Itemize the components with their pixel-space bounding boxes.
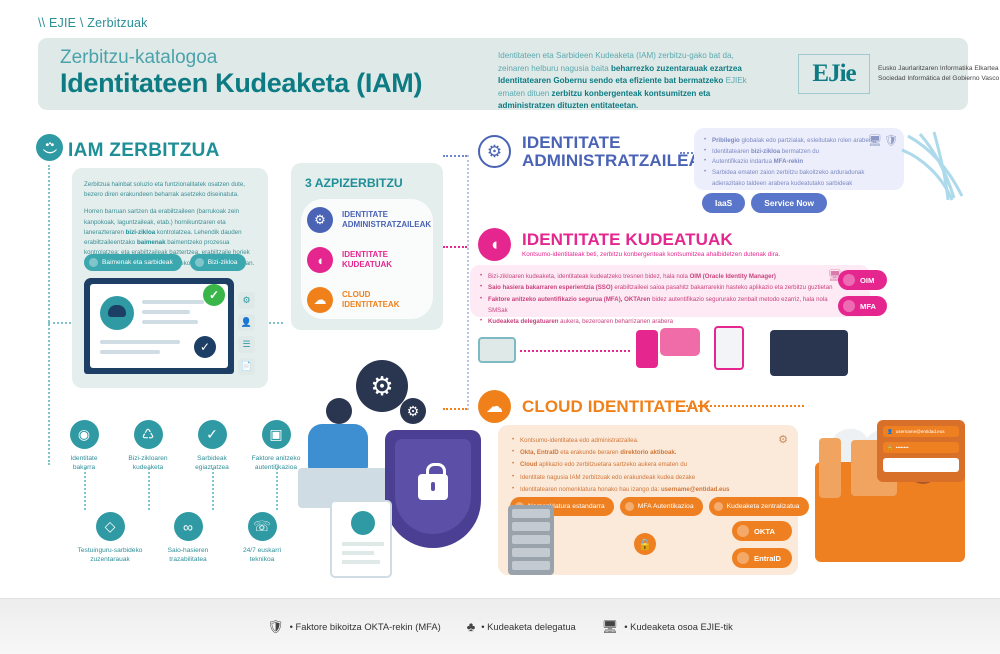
iam-paragraph-1: Zerbitzua hainbat soluzio eta funtzional… <box>84 180 256 200</box>
shield-inner <box>395 439 471 534</box>
avatar <box>351 511 375 535</box>
section-managed-header: ◖ IDENTITATE KUDEATUAK Kontsumo-identita… <box>478 228 780 261</box>
shield-icon <box>625 502 634 511</box>
hand-users-icon <box>42 140 58 156</box>
connector-cloud-right <box>686 405 804 407</box>
server-row <box>512 535 550 544</box>
login-submit-button[interactable] <box>883 458 959 472</box>
laptop-code-illustration <box>770 330 848 376</box>
placeholder-line <box>142 320 198 324</box>
side-panel <box>819 438 841 498</box>
server-row <box>512 509 550 518</box>
managed-identity-icon: ◖ <box>307 247 333 273</box>
admins-tag-group: IaaS Service Now <box>702 193 827 213</box>
connector-cloud <box>443 408 467 410</box>
iam-pill-permissions[interactable]: Baimenak eta sarbideak <box>84 254 182 271</box>
connector-vertical-mid <box>467 155 469 410</box>
person-head <box>326 398 352 424</box>
connector-admins <box>443 155 467 157</box>
bullet: Sarbidea ematen zaion zerbitzu bakoitzek… <box>704 168 882 189</box>
bullet: Okta, EntraID eta erakunde beraren direk… <box>512 447 766 459</box>
login-card: 👤 username@entidad.eus 🔒 •••••••• <box>877 420 965 482</box>
placeholder-line <box>100 350 160 354</box>
iam-pill-group: Baimenak eta sarbideak Bizi-zikloa <box>84 254 246 271</box>
infographic-page: \\ EJIE \ Zerbitzuak Zerbitzu-katalogoa … <box>0 0 1000 654</box>
shield-check-icon: 🛡 <box>267 619 284 635</box>
verified-access-icon: ✓ <box>198 420 227 449</box>
login-username-value: username@entidad.eus <box>896 429 945 434</box>
avatar <box>100 296 134 330</box>
feature-label: 24/7 euskarri teknikoa <box>220 547 304 565</box>
bullet: Identitate nagusia IAM zerbitzuak edo er… <box>512 472 766 484</box>
section-managed-subtitle: Kontsumo-identitateak beti, zerbitzu kon… <box>522 251 780 258</box>
status-ok-icon: ✓ <box>203 284 225 306</box>
cloud-provider-group: OKTA EntraID <box>732 521 792 568</box>
header-description: Identitateen eta Sarbideen Kudeaketa (IA… <box>498 50 760 113</box>
feature-connector <box>84 468 86 510</box>
lock-icon <box>418 474 448 500</box>
iam-pill-lifecycle[interactable]: Bizi-zikloa <box>190 254 247 271</box>
server-row <box>512 548 550 557</box>
settings-user-icon: ⚙ <box>778 433 788 446</box>
feature-support[interactable]: ☏ 24/7 euskarri teknikoa <box>220 512 304 565</box>
iam-pill-label: Bizi-zikloa <box>208 259 238 266</box>
feature-context-access[interactable]: ◇ Testuinguru-sarbideko zuzentarauak <box>68 512 152 565</box>
bullet: Identitatearen bizi-zikloa bermatzen du <box>704 147 882 158</box>
bullet: Faktore anitzeko autentifikazio segurua … <box>480 294 836 317</box>
subservice-item-managed[interactable]: ◖ IDENTITATE KUDEATUAK <box>307 247 392 273</box>
admin-identity-icon: ⚙ <box>307 207 333 233</box>
feature-traceability[interactable]: ∞ Saio-hasieren trazabilitatea <box>146 512 230 565</box>
placeholder-line <box>342 560 380 564</box>
bullet: Identitatearen nomenklatura honako hau i… <box>512 484 766 496</box>
placeholder-line <box>100 340 180 344</box>
legend-item-delegated: ♣ • Kudeaketa delegatua <box>467 619 576 634</box>
bullet: Bizi-zikloaren kudeaketa, identitateak k… <box>480 271 836 282</box>
breadcrumb[interactable]: \\ EJIE \ Zerbitzuak <box>38 16 148 30</box>
managed-badge-group: OIM MFA <box>838 270 887 316</box>
section-admins-header: ⚙ IDENTITATE ADMINISTRATZAILEAK <box>478 134 713 170</box>
gear-small-icon: ⚙ <box>400 398 426 424</box>
feature-mfa[interactable]: ▣ Faktore anitzeko autentifikazioa <box>234 420 318 473</box>
managed-panel: Bizi-zikloaren kudeaketa, identitateak k… <box>470 265 870 317</box>
login-password-value: •••••••• <box>896 445 909 450</box>
admins-bullets: Pribilegio globalak edo partzialak, esle… <box>704 136 882 189</box>
cloud-identity-icon: ☁ <box>307 287 333 313</box>
cloud-tag-group: Nomenklatura estandarra MFA Autentikazio… <box>510 497 809 516</box>
phone-illustration <box>636 330 658 368</box>
logo-sub-eu: Eusko Jaurlaritzaren Informatika Elkarte… <box>878 64 1000 74</box>
feature-label: Testuinguru-sarbideko zuzentarauak <box>68 547 152 565</box>
badge-label: OIM <box>860 276 874 285</box>
badge-mfa[interactable]: MFA <box>838 296 887 316</box>
badge-label: MFA <box>860 302 876 311</box>
connector-devices <box>520 350 630 352</box>
bullet: Kontsumo-identitatea edo administratzail… <box>512 435 766 447</box>
delegation-icon: ♣ <box>467 619 476 634</box>
legend-label: • Kudeaketa osoa EJIE-tik <box>624 621 733 632</box>
ejie-logo: EJie <box>798 54 870 94</box>
subservices-title: 3 AZPIZERBITZU <box>305 176 403 190</box>
tablet-pink-illustration <box>714 326 744 370</box>
feature-connector <box>148 468 150 510</box>
admin-identity-icon: ⚙ <box>478 135 511 168</box>
legend-label: • Faktore bikoitza OKTA-rekin (MFA) <box>290 621 441 632</box>
shield-illustration <box>385 430 481 548</box>
page-title: Identitateen Kudeaketa (IAM) <box>60 68 422 99</box>
provider-label: EntraID <box>754 554 781 563</box>
lock-orange-icon: 🔒 <box>634 533 656 555</box>
bullet: Autentifikazio indartua MFA-rekin <box>704 157 882 168</box>
ejie-logo-text: EJie <box>812 60 855 88</box>
subservice-label: CLOUD IDENTITATEAK <box>342 290 399 310</box>
user-icon: 👤 <box>887 429 893 435</box>
iam-pill-label: Baimenak eta sarbideak <box>102 259 173 266</box>
connector-managed <box>443 246 467 248</box>
mfa-icon <box>843 300 855 312</box>
server-rack-illustration <box>508 505 554 575</box>
header-band: Zerbitzu-katalogoa Identitateen Kudeaket… <box>38 38 968 110</box>
support-icon: ☏ <box>248 512 277 541</box>
cloud-identity-icon: ☁ <box>478 390 511 423</box>
feature-connector <box>276 468 278 510</box>
badge-oim[interactable]: OIM <box>838 270 887 290</box>
lifecycle-icon: ♺ <box>134 420 163 449</box>
single-identity-icon: ◉ <box>70 420 99 449</box>
footer-legend: 🛡 • Faktore bikoitza OKTA-rekin (MFA) ♣ … <box>0 598 1000 654</box>
oim-icon <box>843 274 855 286</box>
provider-okta[interactable]: OKTA <box>732 521 792 541</box>
ejie-logo-subtitle: Eusko Jaurlaritzaren Informatika Elkarte… <box>878 64 1000 83</box>
placeholder-line <box>342 551 374 555</box>
legend-item-mfa: 🛡 • Faktore bikoitza OKTA-rekin (MFA) <box>267 619 441 635</box>
bullet: Pribilegio globalak edo partzialak, esle… <box>704 136 882 147</box>
entraid-icon <box>737 552 749 564</box>
mfa-icon: ▣ <box>262 420 291 449</box>
tag-service-now[interactable]: Service Now <box>751 193 827 213</box>
id-card-illustration <box>330 500 392 578</box>
placeholder-line <box>342 542 384 546</box>
speech-bubble <box>660 328 700 356</box>
okta-icon <box>737 525 749 537</box>
tag-label: Kudeaketa zentralizatua <box>727 503 800 510</box>
bullet: Cloud aplikazio edo zerbitzuetara sartze… <box>512 459 766 471</box>
managed-bullets: Bizi-zikloaren kudeaketa, identitateak k… <box>480 271 836 327</box>
server-row <box>512 561 550 570</box>
iam-service-icon <box>36 134 63 161</box>
legend-item-full-ejie: 🖥 • Kudeaketa osoa EJIE-tik <box>602 619 733 635</box>
subservice-label: IDENTITATE KUDEATUAK <box>342 250 392 270</box>
cloud-bullets: Kontsumo-identitatea edo administratzail… <box>512 435 766 496</box>
subservice-label: IDENTITATE ADMINISTRATZAILEAK <box>342 210 431 230</box>
feather-decoration <box>900 128 970 203</box>
mini-list-icon: ☰ <box>238 336 255 353</box>
section-managed-title: IDENTITATE KUDEATUAK <box>522 231 780 249</box>
login-username-field[interactable]: 👤 username@entidad.eus <box>883 426 959 437</box>
header-kicker: Zerbitzu-katalogoa <box>60 47 217 69</box>
section-cloud-header: ☁ CLOUD IDENTITATEAK <box>478 390 711 423</box>
logo-sub-es: Sociedad Informática del Gobierno Vasco <box>878 74 1000 84</box>
login-password-field[interactable]: 🔒 •••••••• <box>883 442 959 453</box>
legend-label: • Kudeaketa delegatua <box>481 621 576 632</box>
feature-label: Saio-hasieren trazabilitatea <box>146 547 230 565</box>
managed-identity-icon: ◖ <box>478 228 511 261</box>
placeholder-line <box>142 300 204 304</box>
server-row <box>512 522 550 531</box>
shield-check-icon: 🛡 <box>884 134 898 147</box>
subservices-card: 3 AZPIZERBITZU ⚙ IDENTITATE ADMINISTRATZ… <box>291 163 443 330</box>
check-icon: ✓ <box>194 336 216 358</box>
feature-connector <box>212 468 214 510</box>
trace-icon: ∞ <box>174 512 203 541</box>
tag-label: MFA Autentikazioa <box>638 503 694 510</box>
key-icon <box>89 258 98 267</box>
admins-panel: Pribilegio globalak edo partzialak, esle… <box>694 128 904 190</box>
tag-mfa-auth[interactable]: MFA Autentikazioa <box>620 497 703 516</box>
hub-icon <box>714 502 723 511</box>
subservice-item-cloud[interactable]: ☁ CLOUD IDENTITATEAK <box>307 287 399 313</box>
layers-icon: ◇ <box>96 512 125 541</box>
mini-gear-icon: ⚙ <box>238 292 255 309</box>
cycle-icon <box>195 258 204 267</box>
provider-entraid[interactable]: EntraID <box>732 548 792 568</box>
mini-user-icon: 👤 <box>238 314 255 331</box>
placeholder-line <box>142 310 190 314</box>
tag-iaas[interactable]: IaaS <box>702 193 745 213</box>
subservices-inner: ⚙ IDENTITATE ADMINISTRATZAILEAK ◖ IDENTI… <box>301 199 433 319</box>
iam-service-title: IAM ZERBITZUA <box>68 140 220 162</box>
tablet-illustration <box>478 337 516 363</box>
monitor-user-icon: 🖥 <box>602 619 619 635</box>
cloud-illustration: 🔒 👤 username@entidad.eus 🔒 •••••••• <box>815 420 990 575</box>
bullet: Kudeaketa delegatuaren aukera, bezeroare… <box>480 316 836 327</box>
subservice-item-admins[interactable]: ⚙ IDENTITATE ADMINISTRATZAILEAK <box>307 207 431 233</box>
lock-icon: 🔒 <box>887 445 893 451</box>
tag-central-mgmt[interactable]: Kudeaketa zentralizatua <box>709 497 809 516</box>
section-managed-textblock: IDENTITATE KUDEATUAK Kontsumo-identitate… <box>522 231 780 259</box>
monitor-user-icon: 🖥 <box>868 134 882 147</box>
section-cloud-title: CLOUD IDENTITATEAK <box>522 398 711 416</box>
mini-doc-icon: 📄 <box>238 358 255 375</box>
bullet: Saio hasiera bakarraren esperientzia (SS… <box>480 282 836 293</box>
provider-label: OKTA <box>754 527 775 536</box>
